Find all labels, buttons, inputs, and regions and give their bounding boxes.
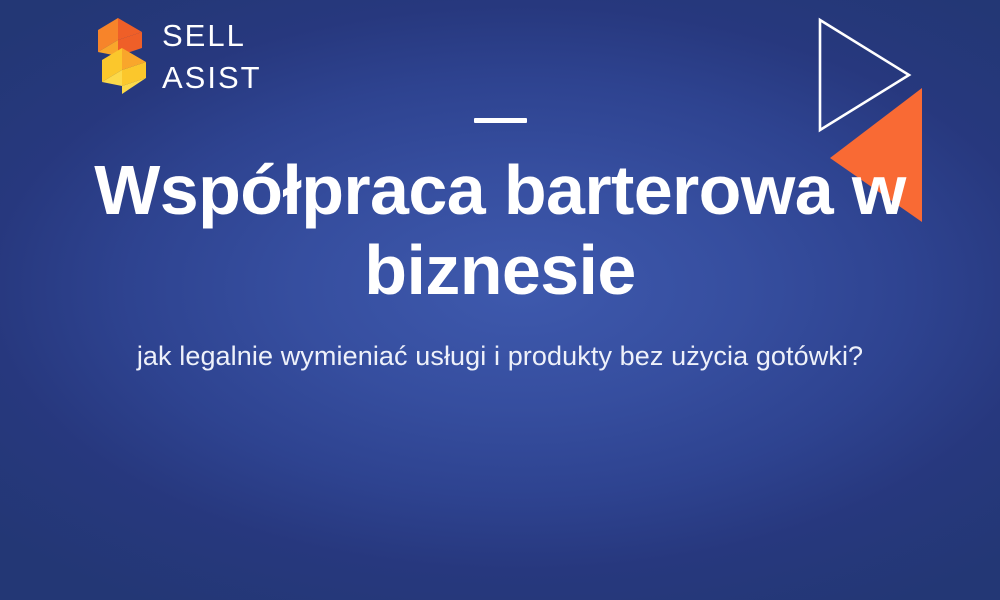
brand-wordmark: SELL ASIST xyxy=(162,20,262,93)
brand-name-line1: SELL xyxy=(162,20,262,51)
brand-logo[interactable]: SELL ASIST xyxy=(98,18,262,94)
page-subtitle: jak legalnie wymieniać usługi i produkty… xyxy=(100,337,900,376)
brand-name-line2: ASIST xyxy=(162,62,262,93)
play-triangle-outline-icon xyxy=(820,20,909,130)
slide-content: Współpraca barterowa w biznesie jak lega… xyxy=(0,118,1000,376)
page-title: Współpraca barterowa w biznesie xyxy=(90,151,910,311)
title-divider xyxy=(474,118,527,123)
title-slide: SELL ASIST Współpraca barterowa w biznes… xyxy=(0,0,1000,600)
sellasist-s-logo-icon xyxy=(98,18,146,94)
